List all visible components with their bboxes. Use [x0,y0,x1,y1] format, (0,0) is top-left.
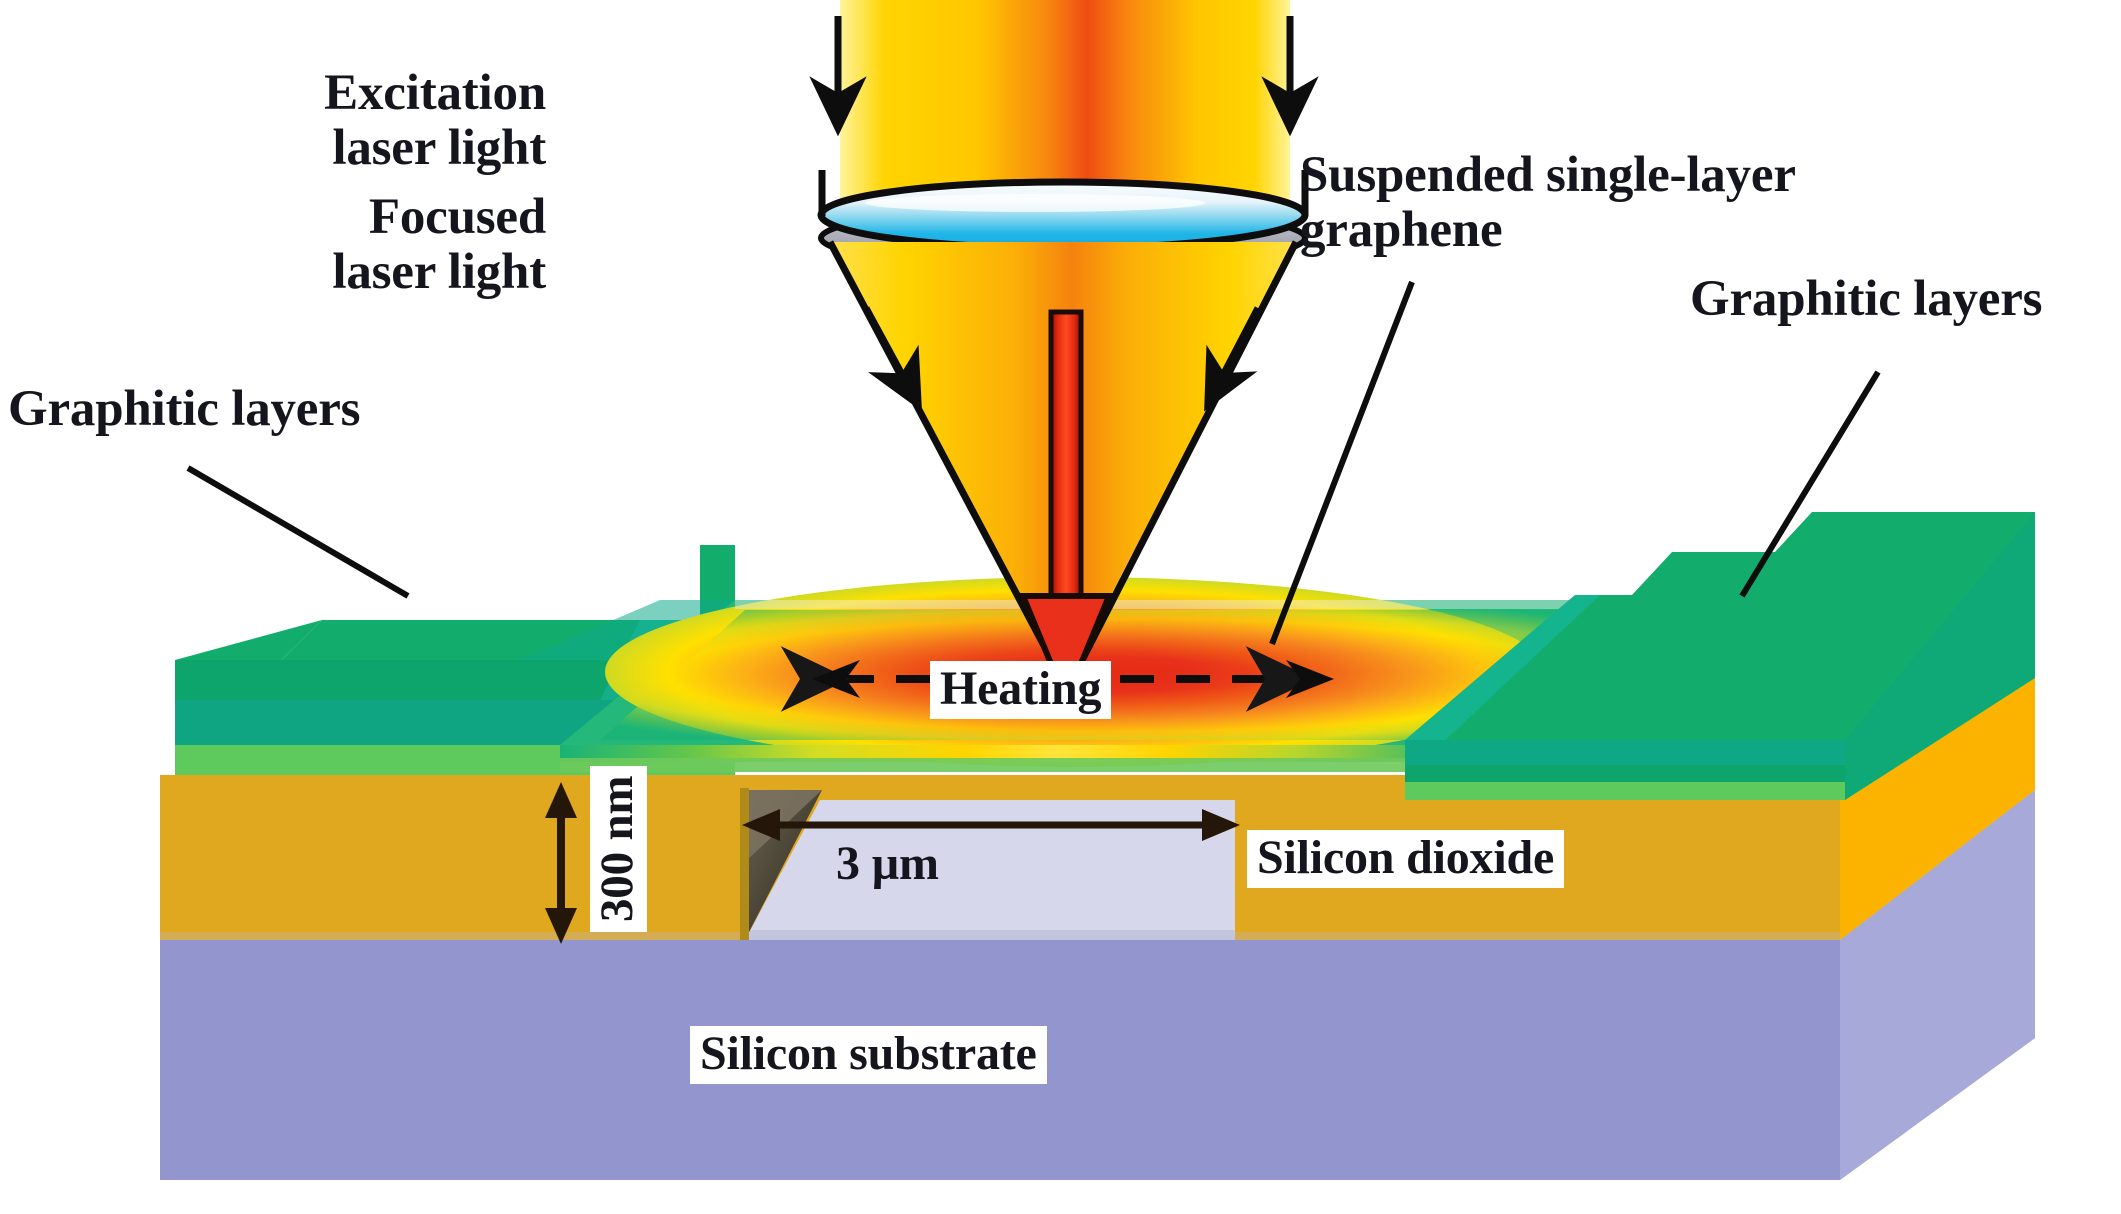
excitation-laser-line1: Excitation [324,65,546,121]
graphitic-layers-right-label: Graphitic layers [1690,272,2120,327]
suspended-graphene-line2: graphene [1300,202,1502,258]
suspended-graphene-label: Suspended single-layergraphene [1300,148,1920,258]
silicon-dioxide-label: Silicon dioxide [1247,830,1564,888]
focused-laser-line1: Focused [369,189,546,245]
leader-line-suspended [1272,282,1412,644]
excitation-laser-line2: laser light [332,120,546,176]
excitation-laser-label: Excitationlaser light [146,66,546,176]
suspended-graphene-line1: Suspended single-layer [1300,147,1796,203]
heating-label: Heating [930,661,1111,719]
oxide-thickness-label: 300 nm [590,766,647,932]
trench-cavity [740,788,1235,940]
leader-line-graphitic-left [188,468,408,596]
figure-canvas: Excitationlaser light Focusedlaser light… [0,0,2121,1214]
focused-laser-line2: laser light [332,244,546,300]
trench-width-label: 3 µm [836,838,939,890]
focused-laser-label: Focusedlaser light [146,190,546,300]
graphitic-layers-left-label: Graphitic layers [8,382,428,437]
silicon-substrate-label: Silicon substrate [690,1026,1047,1084]
